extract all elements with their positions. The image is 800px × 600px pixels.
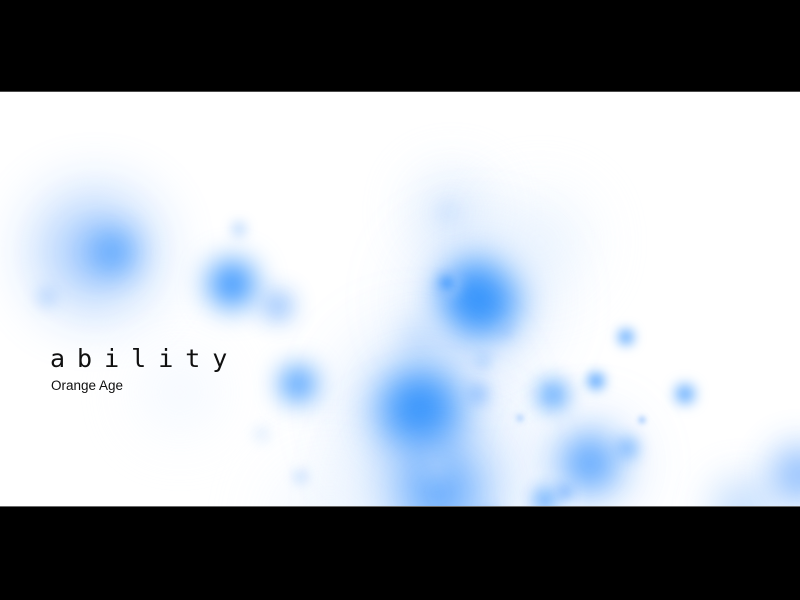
subtitle: Orange Age (51, 378, 239, 393)
bokeh-right-upper-dot (617, 328, 635, 346)
bokeh-upper-left-bright (202, 254, 262, 314)
bokeh-right-tiny-dot (638, 416, 646, 424)
letterbox-bar-top (0, 0, 800, 92)
bokeh-ring-core (439, 275, 455, 291)
title-block: ability Orange Age (50, 346, 239, 393)
bokeh-right-cluster-a (535, 377, 571, 413)
bokeh-upper-dot-small (230, 220, 248, 238)
bokeh-left-tiny (36, 286, 58, 308)
bokeh-upper-left-mid (260, 288, 296, 324)
letterbox-edge-top (0, 91, 800, 92)
bokeh-bottom-notch (420, 451, 452, 483)
bokeh-right-cluster-d (556, 483, 574, 501)
bokeh-right-cluster-c (531, 486, 559, 507)
bokeh-pale-upper-right (480, 182, 600, 302)
page-title: ability (50, 346, 239, 371)
bokeh-right-mid-dot (586, 371, 606, 391)
bokeh-center-dot-c (498, 323, 512, 337)
bokeh-center-dot-a (467, 383, 489, 405)
video-stage: ability Orange Age (0, 92, 800, 507)
letterbox-bar-bottom (0, 507, 800, 600)
bokeh-mid-left-bright (276, 362, 320, 406)
bokeh-right-tiny-low (516, 414, 524, 422)
bokeh-right-far-dot (674, 383, 696, 405)
bokeh-top-faint-core (437, 201, 459, 223)
bokeh-left-core (87, 226, 139, 278)
letterbox-edge-bottom (0, 506, 800, 507)
bokeh-background (0, 92, 800, 507)
bokeh-center-dot-b (475, 353, 491, 369)
bokeh-near-text-faint (253, 425, 271, 443)
bokeh-right-cluster-b (616, 436, 640, 460)
video-player-frame: ability Orange Age (0, 0, 800, 600)
